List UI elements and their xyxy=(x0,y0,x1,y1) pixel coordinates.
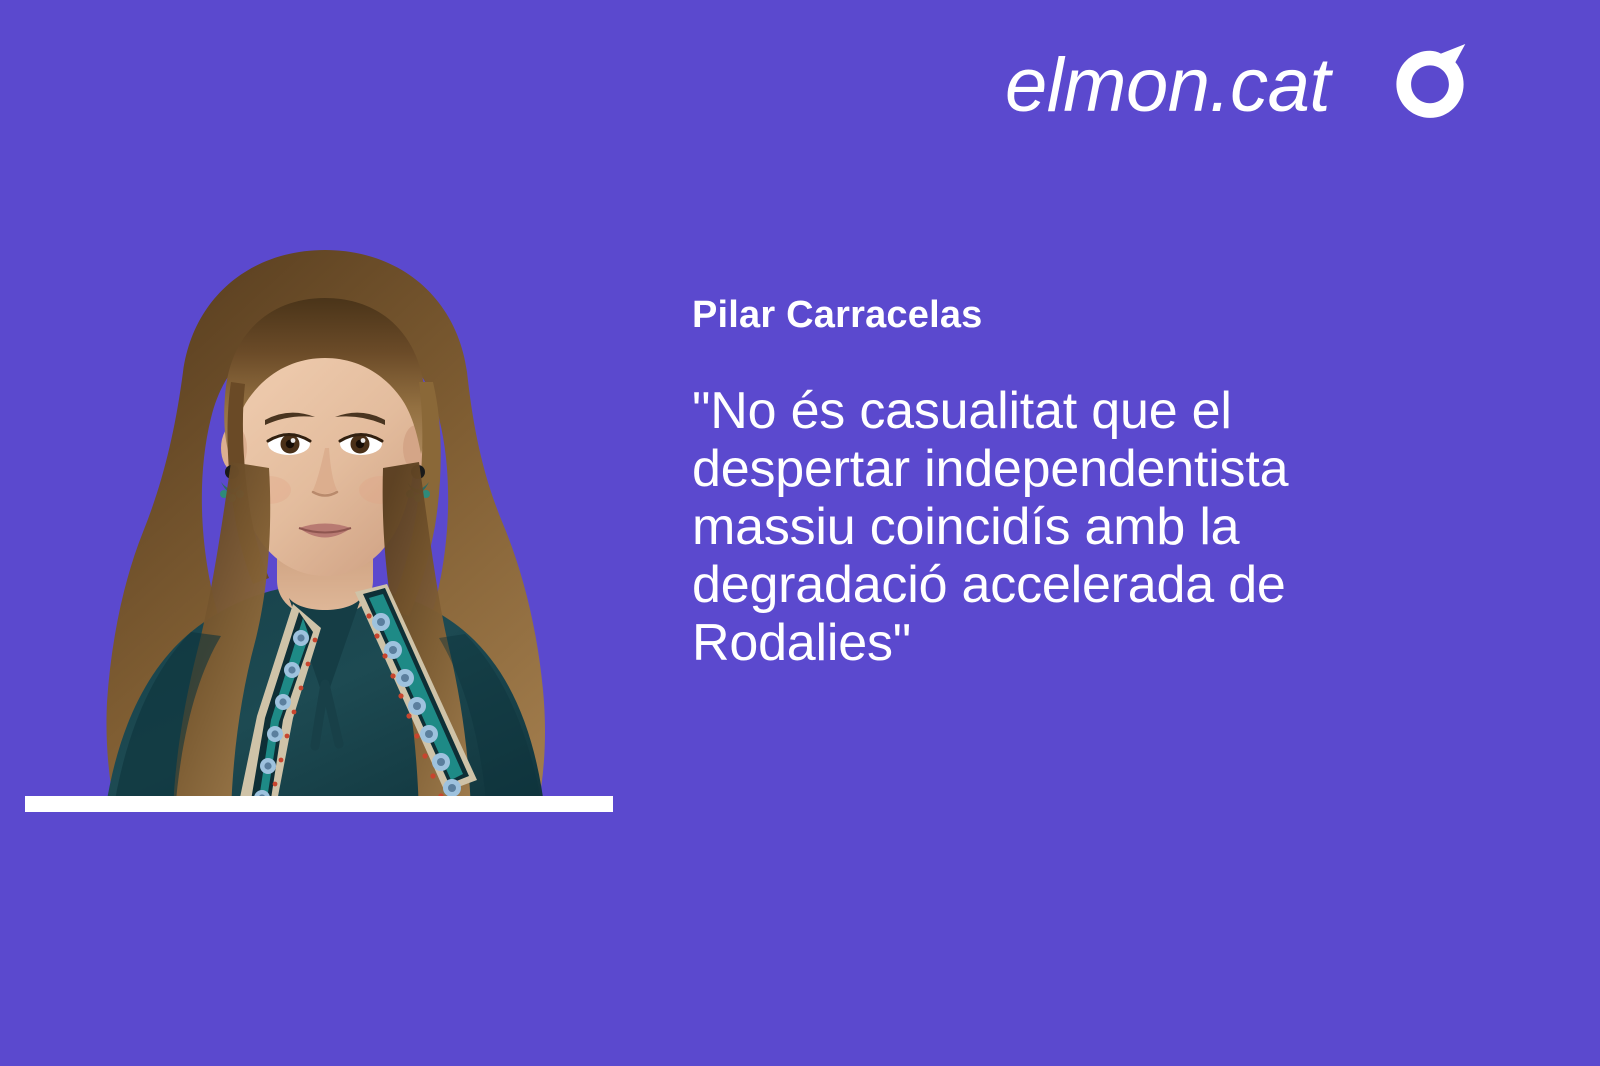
quote-text: "No és casualitat que el despertar indep… xyxy=(692,338,1392,672)
portrait-photo xyxy=(25,232,625,812)
quote-line: degradació accelerada de xyxy=(692,556,1392,614)
speaker-name: Pilar Carracelas xyxy=(692,294,1392,338)
quote-line: massiu coincidís amb la xyxy=(692,498,1392,556)
quote-line: Rodalies" xyxy=(692,614,1392,672)
brand-header: elmon.cat xyxy=(1005,44,1472,128)
divider-rule xyxy=(25,796,613,812)
brand-wordmark: elmon.cat xyxy=(1005,48,1330,124)
quote-line: despertar independentista xyxy=(692,440,1392,498)
quote-card: elmon.cat xyxy=(0,0,1600,1066)
portrait-illustration xyxy=(25,232,625,812)
elmon-circle-logo-icon xyxy=(1388,44,1472,128)
quote-text-block: Pilar Carracelas "No és casualitat que e… xyxy=(692,294,1392,672)
quote-line: "No és casualitat que el xyxy=(692,382,1392,440)
